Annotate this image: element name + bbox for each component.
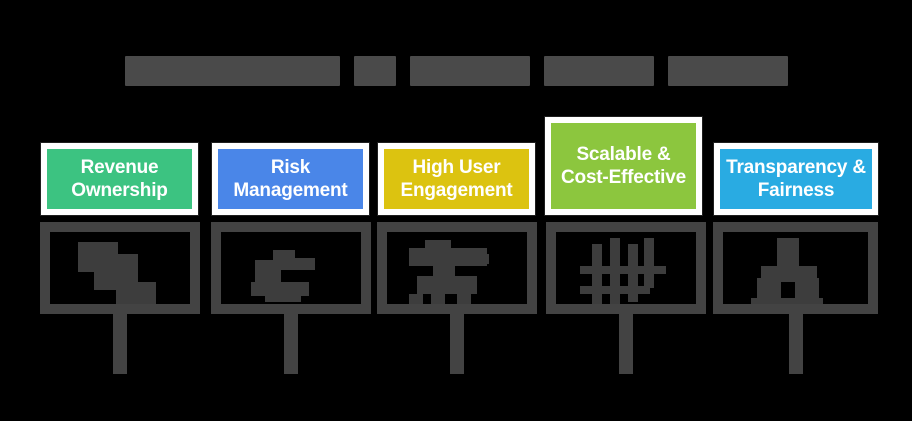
card-icon-area-3 xyxy=(387,232,527,304)
icon-block xyxy=(431,294,445,304)
icon-block xyxy=(417,276,477,294)
card-header-fill-3: High User Engagement xyxy=(384,149,529,209)
card-post-3 xyxy=(450,314,464,374)
card-label-2: Risk Management xyxy=(222,156,359,202)
redacted-icon-3-icon xyxy=(387,232,527,304)
icon-block xyxy=(757,278,781,300)
card-header-4[interactable]: Scalable & Cost-Effective xyxy=(545,117,702,215)
card-header-fill-2: Risk Management xyxy=(218,149,363,209)
card-board-2 xyxy=(211,222,371,314)
icon-block xyxy=(592,244,602,304)
card-label-4: Scalable & Cost-Effective xyxy=(555,143,692,189)
card-icon-area-1 xyxy=(50,232,190,304)
icon-block xyxy=(265,292,301,302)
card-icon-area-5 xyxy=(723,232,868,304)
redacted-icon-4-icon xyxy=(556,232,696,304)
redacted-icon-5-icon xyxy=(723,232,868,304)
card-icon-area-2 xyxy=(221,232,361,304)
card-icon-area-4 xyxy=(556,232,696,304)
icon-block xyxy=(795,278,819,300)
card-post-5 xyxy=(789,314,803,374)
card-header-3[interactable]: High User Engagement xyxy=(378,143,535,215)
card-header-1[interactable]: Revenue Ownership xyxy=(41,143,198,215)
icon-block xyxy=(580,266,666,274)
card-label-5: Transparency & Fairness xyxy=(724,156,868,202)
icon-block xyxy=(580,286,650,294)
card-label-1: Revenue Ownership xyxy=(51,156,188,202)
card-post-4 xyxy=(619,314,633,374)
icon-block xyxy=(777,238,799,268)
card-board-4 xyxy=(546,222,706,314)
redacted-icon-2-icon xyxy=(221,232,361,304)
icon-block xyxy=(88,250,106,264)
card-post-1 xyxy=(113,314,127,374)
icon-block xyxy=(287,258,315,270)
icon-block xyxy=(751,298,823,304)
card-header-fill-5: Transparency & Fairness xyxy=(720,149,872,209)
card-board-1 xyxy=(40,222,200,314)
card-header-fill-4: Scalable & Cost-Effective xyxy=(551,123,696,209)
card-header-fill-1: Revenue Ownership xyxy=(47,149,192,209)
card-header-5[interactable]: Transparency & Fairness xyxy=(714,143,878,215)
icon-block xyxy=(409,294,423,304)
card-board-5 xyxy=(713,222,878,314)
redacted-icon-1-icon xyxy=(50,232,190,304)
signpost-row: Revenue OwnershipRisk ManagementHigh Use… xyxy=(0,0,912,421)
card-board-3 xyxy=(377,222,537,314)
icon-block xyxy=(644,238,654,288)
card-header-2[interactable]: Risk Management xyxy=(212,143,369,215)
card-post-2 xyxy=(284,314,298,374)
icon-block xyxy=(457,294,471,304)
card-label-3: High User Engagement xyxy=(388,156,525,202)
icon-block xyxy=(116,282,156,304)
